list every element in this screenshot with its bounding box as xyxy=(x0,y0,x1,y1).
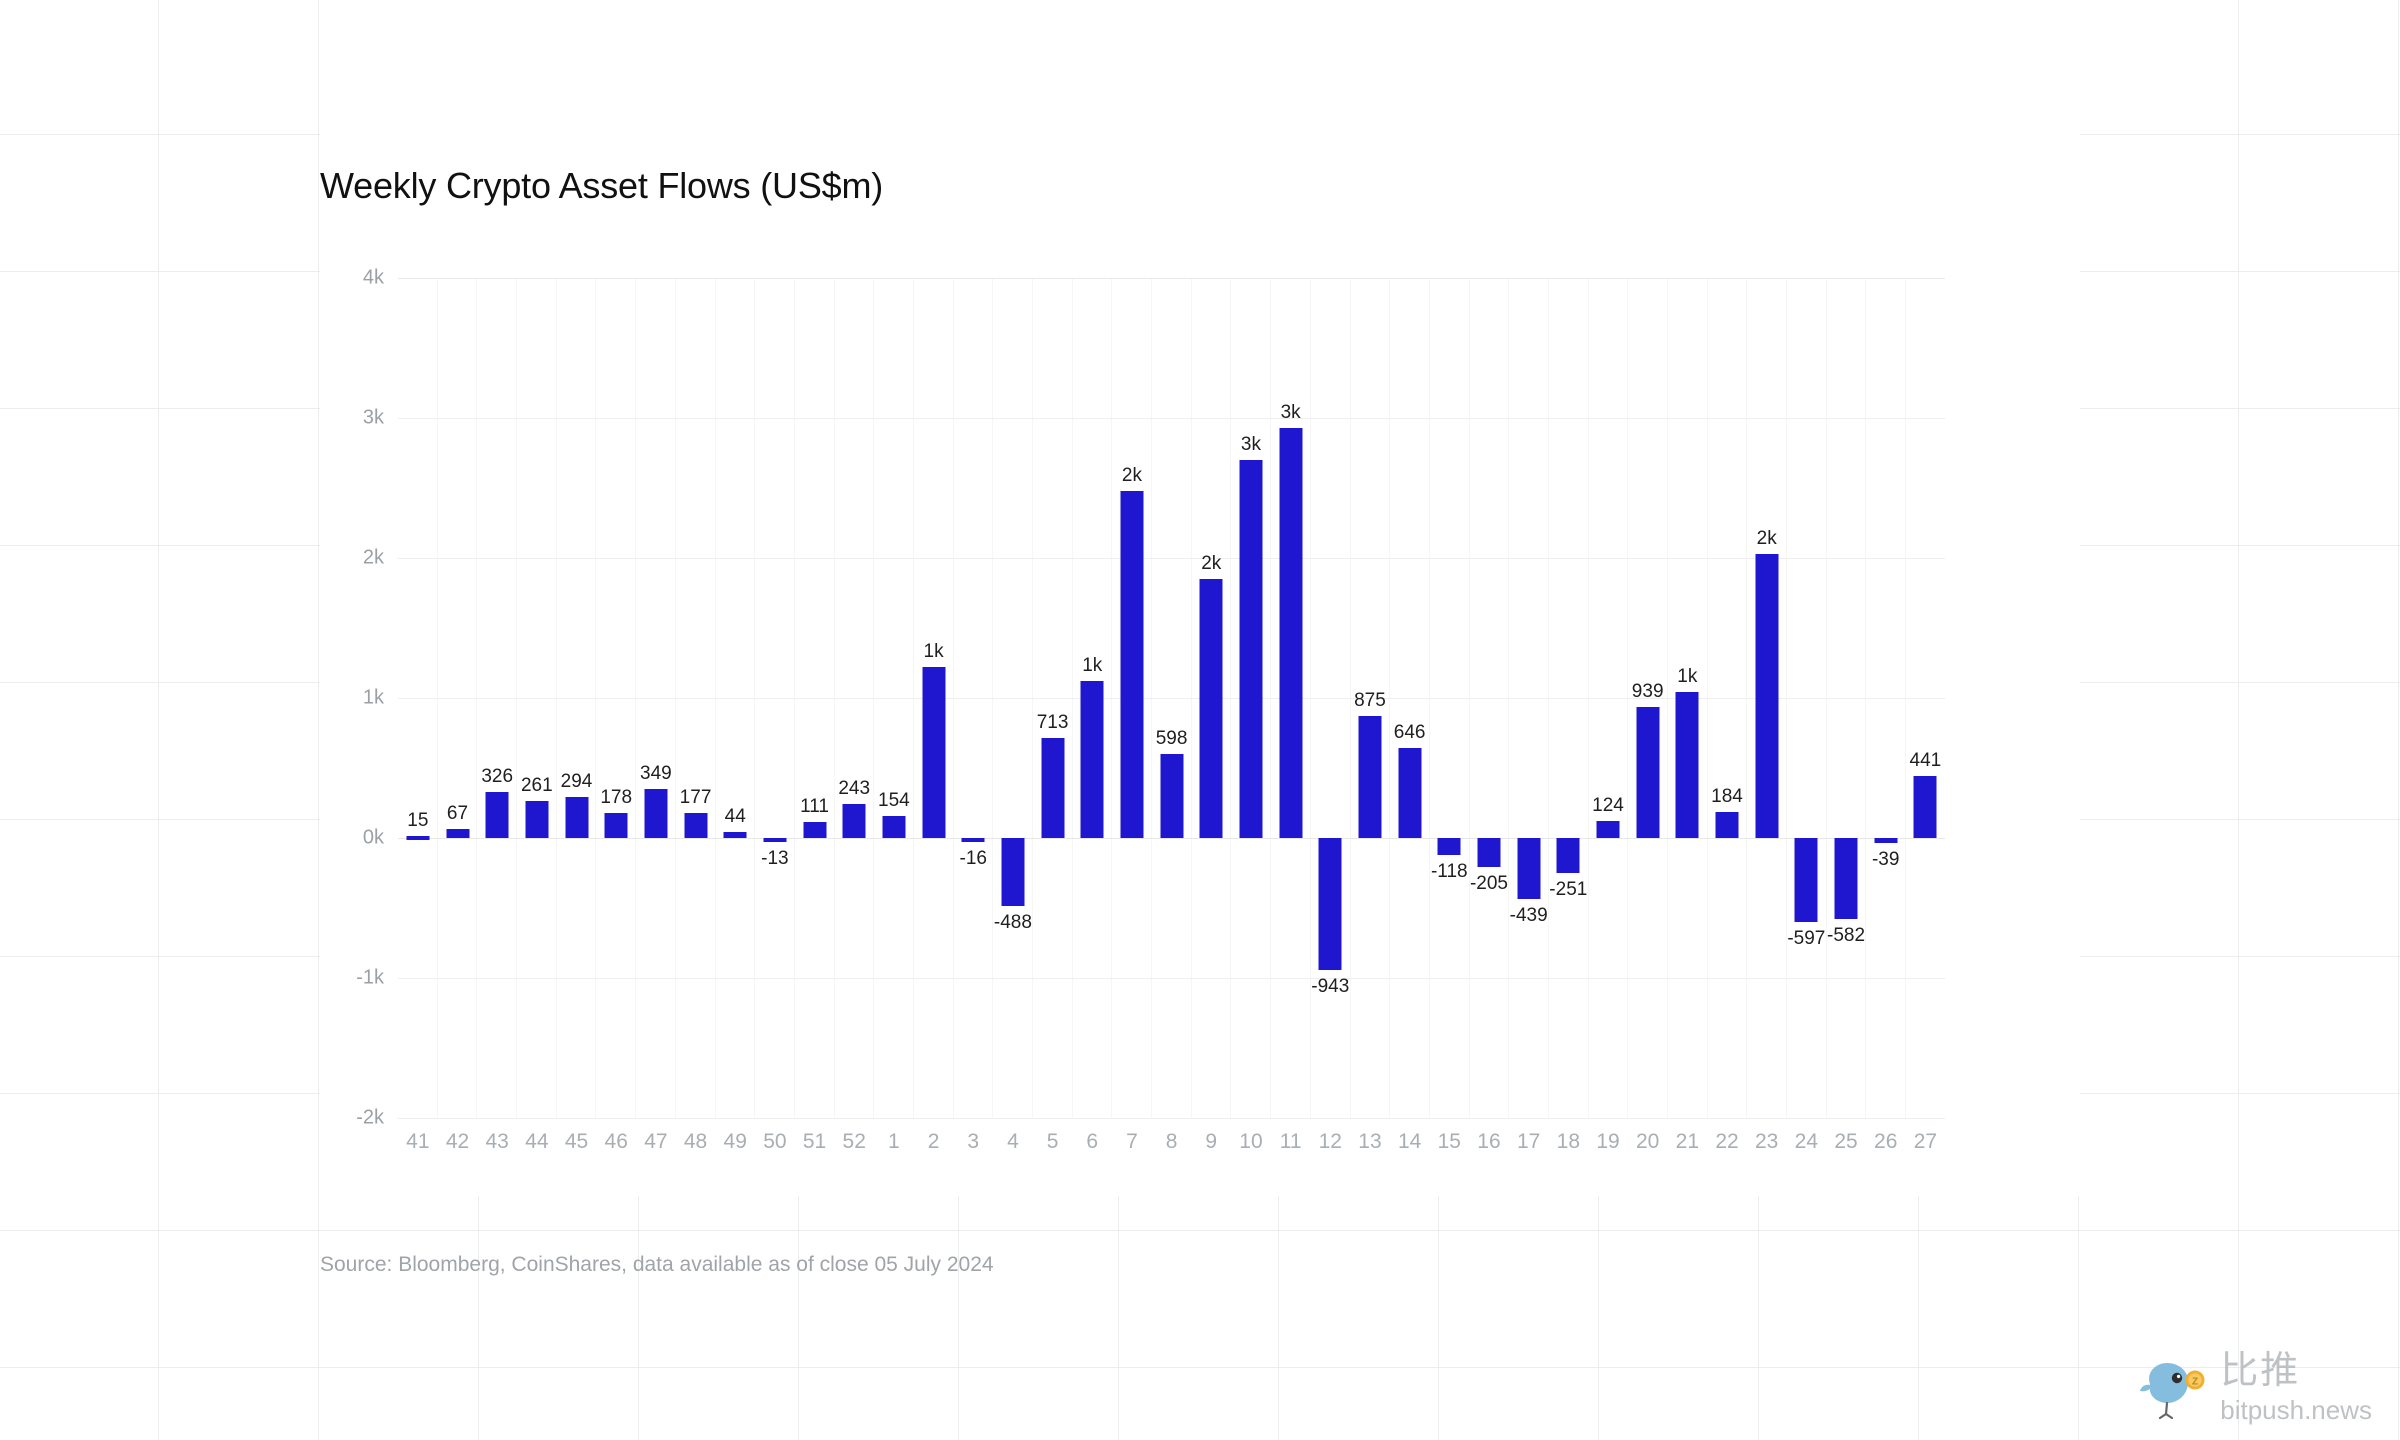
bar[interactable] xyxy=(843,804,866,838)
bar[interactable] xyxy=(684,813,707,838)
bar[interactable] xyxy=(1874,838,1897,843)
x-axis-tick-label: 20 xyxy=(1628,1130,1668,1154)
bar-value-label: -251 xyxy=(1549,879,1587,901)
source-note: Source: Bloomberg, CoinShares, data avai… xyxy=(320,1253,994,1277)
bar[interactable] xyxy=(1001,838,1024,906)
x-axis-tick-label: 48 xyxy=(676,1130,716,1154)
bar-value-label: 326 xyxy=(481,766,513,788)
x-axis-tick-label: 45 xyxy=(557,1130,597,1154)
x-axis-tick-label: 19 xyxy=(1588,1130,1628,1154)
bar-slot[interactable]: -597 xyxy=(1787,278,1827,1118)
bar-slot[interactable]: 598 xyxy=(1152,278,1192,1118)
bar-slot[interactable]: 3k xyxy=(1231,278,1271,1118)
bar[interactable] xyxy=(1596,821,1619,838)
bar-slot[interactable]: 646 xyxy=(1390,278,1430,1118)
bar-value-label: -943 xyxy=(1311,976,1349,998)
blue-bird-with-coin-icon: Z xyxy=(2136,1351,2210,1424)
bar[interactable] xyxy=(446,829,469,838)
x-axis-tick-label: 8 xyxy=(1152,1130,1192,1154)
plot-wrapper: 4k3k2k1k0k-1k-2k 15673262612941783491774… xyxy=(320,278,2080,1118)
bar-value-label: 178 xyxy=(600,787,632,809)
bar[interactable] xyxy=(1398,748,1421,838)
bar-value-label: 875 xyxy=(1354,690,1386,712)
bar-slot[interactable]: 713 xyxy=(1033,278,1073,1118)
chart-figure-card: Weekly Crypto Asset Flows (US$m) 4k3k2k1… xyxy=(320,0,2080,1196)
bar-value-label: -118 xyxy=(1431,861,1468,883)
bar-value-label: 349 xyxy=(640,763,672,785)
bar-value-label: 939 xyxy=(1632,681,1664,703)
bar-value-label: -16 xyxy=(960,848,987,870)
svg-text:Z: Z xyxy=(2192,1377,2198,1388)
bar-slot[interactable]: -118 xyxy=(1429,278,1469,1118)
bar[interactable] xyxy=(525,801,548,838)
bar-slot[interactable]: 1k xyxy=(1072,278,1112,1118)
bar[interactable] xyxy=(1160,754,1183,838)
bar-value-label: 294 xyxy=(561,771,593,793)
bar-slot[interactable]: 875 xyxy=(1350,278,1390,1118)
y-axis-tick-label: 1k xyxy=(363,687,384,710)
bar[interactable] xyxy=(1041,738,1064,838)
bar-slot[interactable]: -16 xyxy=(953,278,993,1118)
bar[interactable] xyxy=(1239,460,1262,838)
bar[interactable] xyxy=(1517,838,1540,899)
bar-slot[interactable]: 154 xyxy=(874,278,914,1118)
bar[interactable] xyxy=(1319,838,1342,970)
x-axis-tick-label: 10 xyxy=(1231,1130,1271,1154)
bar[interactable] xyxy=(1835,838,1858,919)
bar-value-label: 15 xyxy=(407,810,428,832)
bar-value-label: 67 xyxy=(447,803,468,825)
bar[interactable] xyxy=(1200,579,1223,838)
x-axis-tick-label: 50 xyxy=(755,1130,795,1154)
x-axis-tick-label: 2 xyxy=(914,1130,954,1154)
bar-slot[interactable]: 349 xyxy=(636,278,676,1118)
bar-slot[interactable]: -439 xyxy=(1509,278,1549,1118)
bar[interactable] xyxy=(962,838,985,842)
bar-value-label: 124 xyxy=(1592,795,1624,817)
y-axis-tick-label: -1k xyxy=(356,967,384,990)
bar[interactable] xyxy=(1081,681,1104,838)
x-axis-tick-label: 22 xyxy=(1707,1130,1747,1154)
bar-value-label: 44 xyxy=(725,806,746,828)
x-axis-tick-label: 43 xyxy=(477,1130,517,1154)
bar-value-label: 1k xyxy=(924,641,944,663)
bar-slot[interactable]: 326 xyxy=(477,278,517,1118)
bar-slot[interactable]: 294 xyxy=(557,278,597,1118)
x-axis-tick-label: 23 xyxy=(1747,1130,1787,1154)
x-axis-tick-label: 25 xyxy=(1826,1130,1866,1154)
bar[interactable] xyxy=(1120,491,1143,838)
bar-slot[interactable]: -251 xyxy=(1548,278,1588,1118)
bar-value-label: 111 xyxy=(800,796,829,818)
bar-slot[interactable]: 441 xyxy=(1906,278,1946,1118)
bar[interactable] xyxy=(1914,776,1937,838)
x-axis-tick-label: 27 xyxy=(1906,1130,1946,1154)
y-axis-tick-label: 2k xyxy=(363,547,384,570)
bar[interactable] xyxy=(1716,812,1739,838)
x-axis-tick-label: 7 xyxy=(1112,1130,1152,1154)
x-axis-tick-label: 42 xyxy=(438,1130,478,1154)
bar-value-label: 243 xyxy=(838,778,870,800)
x-axis-tick-label: 26 xyxy=(1866,1130,1906,1154)
bar-value-label: 1k xyxy=(1677,666,1697,688)
bar[interactable] xyxy=(565,797,588,838)
bar[interactable] xyxy=(406,836,429,840)
bar-slot[interactable]: 177 xyxy=(676,278,716,1118)
bar-slot[interactable]: 2k xyxy=(1747,278,1787,1118)
x-axis-tick-label: 5 xyxy=(1033,1130,1073,1154)
bar[interactable] xyxy=(724,832,747,838)
watermark: Z 比推 bitpush.news xyxy=(2136,1351,2372,1424)
bar-value-label: 646 xyxy=(1394,722,1426,744)
x-axis-tick-label: 14 xyxy=(1390,1130,1430,1154)
bar[interactable] xyxy=(803,822,826,838)
x-axis-tick-label: 16 xyxy=(1469,1130,1509,1154)
x-axis-tick-label: 41 xyxy=(398,1130,438,1154)
x-axis-tick-label: 1 xyxy=(874,1130,914,1154)
y-axis-tick-label: 0k xyxy=(363,827,384,850)
bar-value-label: 2k xyxy=(1201,553,1221,575)
bar-slot[interactable]: 67 xyxy=(438,278,478,1118)
bar-value-label: 441 xyxy=(1910,750,1942,772)
watermark-brand-name: 比推 xyxy=(2220,1352,2372,1390)
bar[interactable] xyxy=(922,667,945,838)
x-axis-tick-label: 12 xyxy=(1310,1130,1350,1154)
bar-value-label: 184 xyxy=(1711,786,1743,808)
x-axis-tick-label: 46 xyxy=(596,1130,636,1154)
x-axis-tick-label: 17 xyxy=(1509,1130,1549,1154)
bar[interactable] xyxy=(1636,707,1659,838)
x-axis-tick-label: 13 xyxy=(1350,1130,1390,1154)
bar-slot[interactable]: 261 xyxy=(517,278,557,1118)
x-axis-tick-label: 51 xyxy=(795,1130,835,1154)
bar-slot[interactable]: -488 xyxy=(993,278,1033,1118)
bar-value-label: 2k xyxy=(1122,465,1142,487)
bar-slot[interactable]: 2k xyxy=(1191,278,1231,1118)
y-axis: 4k3k2k1k0k-1k-2k xyxy=(320,278,398,1118)
x-axis-tick-label: 18 xyxy=(1548,1130,1588,1154)
x-axis-tick-label: 49 xyxy=(715,1130,755,1154)
bar-value-label: -39 xyxy=(1872,849,1899,871)
bar-slot[interactable]: 2k xyxy=(1112,278,1152,1118)
x-axis-tick-label: 47 xyxy=(636,1130,676,1154)
y-axis-tick-label: 4k xyxy=(363,267,384,290)
bar-slot[interactable]: 243 xyxy=(834,278,874,1118)
bar-value-label: 154 xyxy=(878,790,910,812)
bar[interactable] xyxy=(1755,554,1778,838)
bar-value-label: -582 xyxy=(1827,925,1865,947)
bar[interactable] xyxy=(644,789,667,838)
bar-value-label: 713 xyxy=(1037,712,1069,734)
bar[interactable] xyxy=(1477,838,1500,867)
bar[interactable] xyxy=(1358,716,1381,839)
bar[interactable] xyxy=(1438,838,1461,855)
bar-slot[interactable]: -13 xyxy=(755,278,795,1118)
gridline-horizontal xyxy=(398,1118,1945,1119)
bar[interactable] xyxy=(605,813,628,838)
x-axis-tick-label: 3 xyxy=(953,1130,993,1154)
x-axis-tick-label: 21 xyxy=(1668,1130,1708,1154)
bar-slot[interactable]: -943 xyxy=(1310,278,1350,1118)
bar[interactable] xyxy=(1795,838,1818,922)
bar[interactable] xyxy=(1676,692,1699,838)
bar-value-label: -488 xyxy=(994,912,1032,934)
x-axis-tick-label: 11 xyxy=(1271,1130,1311,1154)
x-axis-tick-label: 15 xyxy=(1429,1130,1469,1154)
x-axis-tick-label: 44 xyxy=(517,1130,557,1154)
bar-slot[interactable]: 939 xyxy=(1628,278,1668,1118)
bar-value-label: 261 xyxy=(521,775,553,797)
bar[interactable] xyxy=(763,838,786,842)
bar-slot[interactable]: 15 xyxy=(398,278,438,1118)
bar-value-label: -597 xyxy=(1787,928,1825,950)
bar-slot[interactable]: -582 xyxy=(1826,278,1866,1118)
bar-value-label: 2k xyxy=(1757,528,1777,550)
bar-value-label: -205 xyxy=(1470,873,1508,895)
x-axis: 4142434445464748495051521234567891011121… xyxy=(398,1130,1945,1154)
bar-value-label: 177 xyxy=(680,787,712,809)
bar-slot[interactable]: 44 xyxy=(715,278,755,1118)
bar-value-label: 3k xyxy=(1241,434,1261,456)
bar-slot[interactable]: 1k xyxy=(1668,278,1708,1118)
plot-area: 156732626129417834917744-131112431541k-1… xyxy=(398,278,1945,1118)
bar-slot[interactable]: 184 xyxy=(1707,278,1747,1118)
watermark-url: bitpush.news xyxy=(2220,1397,2372,1423)
bar-slot[interactable]: -39 xyxy=(1866,278,1906,1118)
bar-value-label: 1k xyxy=(1082,655,1102,677)
bar-value-label: 598 xyxy=(1156,728,1188,750)
x-axis-tick-label: 4 xyxy=(993,1130,1033,1154)
bar-slot[interactable]: -205 xyxy=(1469,278,1509,1118)
bar[interactable] xyxy=(1279,428,1302,838)
x-axis-tick-label: 52 xyxy=(834,1130,874,1154)
x-axis-tick-label: 6 xyxy=(1072,1130,1112,1154)
y-axis-tick-label: 3k xyxy=(363,407,384,430)
bar-value-label: -13 xyxy=(761,848,788,870)
x-axis-tick-label: 24 xyxy=(1787,1130,1827,1154)
bar-value-label: 3k xyxy=(1281,402,1301,424)
bar-slot[interactable]: 178 xyxy=(596,278,636,1118)
chart-title: Weekly Crypto Asset Flows (US$m) xyxy=(320,165,883,207)
bar-slot[interactable]: 3k xyxy=(1271,278,1311,1118)
x-axis-tick-label: 9 xyxy=(1191,1130,1231,1154)
bar[interactable] xyxy=(882,816,905,838)
bar-slot[interactable]: 1k xyxy=(914,278,954,1118)
bar-slot[interactable]: 124 xyxy=(1588,278,1628,1118)
bar[interactable] xyxy=(486,792,509,838)
bar-series: 156732626129417834917744-131112431541k-1… xyxy=(398,278,1945,1118)
y-axis-tick-label: -2k xyxy=(356,1107,384,1130)
bar-value-label: -439 xyxy=(1510,905,1548,927)
bar[interactable] xyxy=(1557,838,1580,873)
bar-slot[interactable]: 111 xyxy=(795,278,835,1118)
